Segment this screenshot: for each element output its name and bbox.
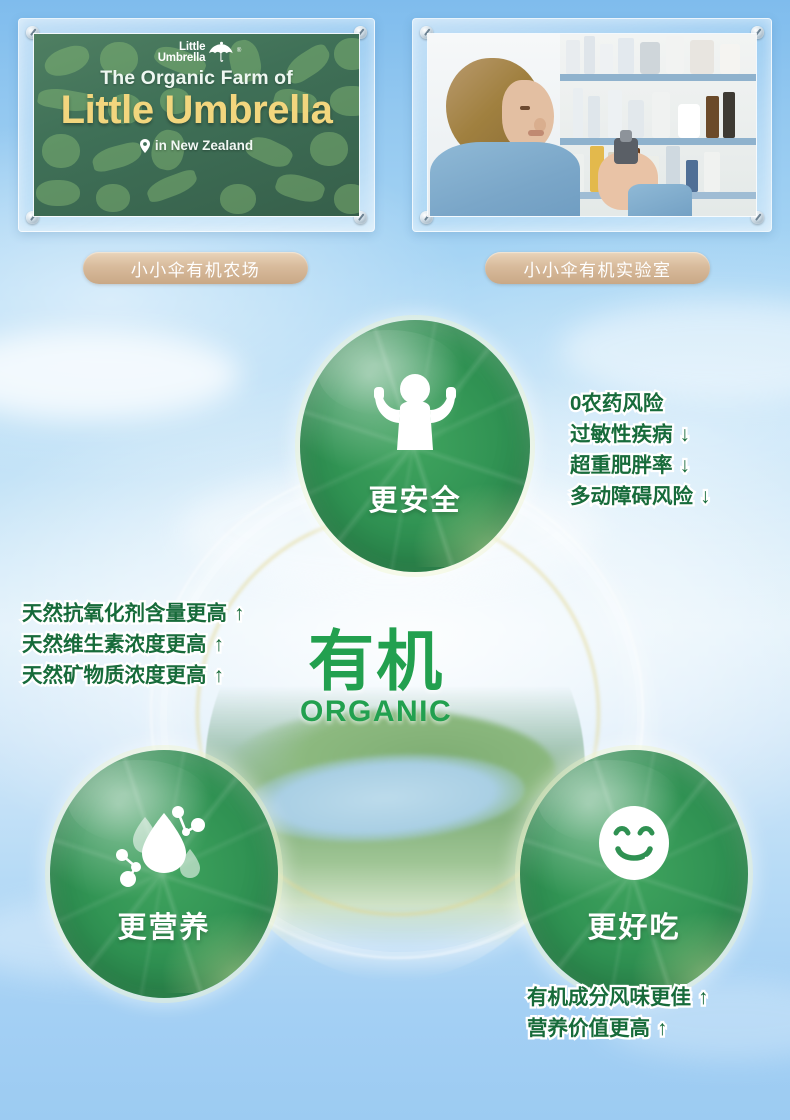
little-umbrella-logo: Little Umbrella ® <box>158 41 236 65</box>
benefit-text: 营养价值更高 <box>527 1013 650 1044</box>
benefit-arrow: ↑ <box>214 629 225 660</box>
benefit-item: 有机成分风味更佳 ↑ <box>527 982 709 1013</box>
benefits-tastier-list: 有机成分风味更佳 ↑ 营养价值更高 ↑ <box>527 982 709 1044</box>
farm-sign-artwork: Little Umbrella ® The Organic Farm of <box>34 34 359 216</box>
benefit-arrow: ↑ <box>214 660 225 691</box>
smiley-tongue-face-icon <box>590 803 678 892</box>
benefit-item: 过敏性疾病 ↓ <box>570 419 711 450</box>
benefit-item: 天然维生素浓度更高 ↑ <box>22 629 245 660</box>
bubble-safer[interactable]: 更安全 <box>300 320 530 572</box>
farm-caption-pill: 小小伞有机农场 <box>83 252 308 284</box>
sign-location-text: in New Zealand <box>155 138 253 153</box>
bubble-nutritious-label: 更营养 <box>117 904 210 946</box>
logo-line-2: Umbrella <box>158 53 206 65</box>
benefit-text: 有机成分风味更佳 <box>527 982 691 1013</box>
benefit-arrow: ↑ <box>234 598 245 629</box>
benefits-safer-list: 0农药风险 过敏性疾病 ↓ 超重肥胖率 ↓ 多动障碍风险 ↓ <box>570 388 711 512</box>
benefit-item: 天然矿物质浓度更高 ↑ <box>22 660 245 691</box>
lab-photo-panel <box>412 18 772 232</box>
registered-mark: ® <box>237 48 241 54</box>
muscle-flex-person-icon <box>367 374 463 465</box>
lab-caption-pill: 小小伞有机实验室 <box>485 252 710 284</box>
benefit-text: 天然抗氧化剂含量更高 <box>22 598 227 629</box>
lab-photo-artwork <box>428 34 756 216</box>
benefit-arrow: ↑ <box>698 982 709 1013</box>
benefit-text: 超重肥胖率 <box>570 450 673 481</box>
cloud-decoration <box>560 300 790 400</box>
cloud-decoration <box>0 330 240 420</box>
bubble-nutritious[interactable]: 更营养 <box>50 750 278 998</box>
benefit-text: 天然矿物质浓度更高 <box>22 660 207 691</box>
sign-location: in New Zealand <box>140 138 253 153</box>
benefit-item: 超重肥胖率 ↓ <box>570 450 711 481</box>
benefit-item: 天然抗氧化剂含量更高 ↑ <box>22 598 245 629</box>
benefit-arrow: ↓ <box>700 481 711 512</box>
sign-title: Little Umbrella <box>61 89 333 131</box>
farm-sign-image: Little Umbrella ® The Organic Farm of <box>33 33 360 217</box>
benefit-text: 天然维生素浓度更高 <box>22 629 207 660</box>
benefits-nutritious-list: 天然抗氧化剂含量更高 ↑ 天然维生素浓度更高 ↑ 天然矿物质浓度更高 ↑ <box>22 598 245 691</box>
benefit-item: 0农药风险 <box>570 388 711 419</box>
water-drop-molecule-icon <box>114 803 214 892</box>
map-pin-icon <box>140 139 150 153</box>
bubble-tastier-label: 更好吃 <box>587 904 680 946</box>
organic-title-cn: 有机 <box>300 628 452 694</box>
lab-photo-image <box>427 33 757 217</box>
organic-title-block: 有机 ORGANIC <box>300 628 452 729</box>
infographic-page: Little Umbrella ® The Organic Farm of <box>0 0 790 1120</box>
farm-sign-panel: Little Umbrella ® The Organic Farm of <box>18 18 375 232</box>
sign-subtitle: The Organic Farm of <box>100 67 293 90</box>
farm-caption-text: 小小伞有机农场 <box>131 256 261 281</box>
benefit-item: 营养价值更高 ↑ <box>527 1013 709 1044</box>
benefit-arrow: ↓ <box>680 419 691 450</box>
organic-title-en: ORGANIC <box>300 695 452 729</box>
benefit-arrow: ↑ <box>657 1013 668 1044</box>
umbrella-icon: ® <box>208 41 235 65</box>
benefit-item: 多动障碍风险 ↓ <box>570 481 711 512</box>
lab-caption-text: 小小伞有机实验室 <box>524 256 672 281</box>
benefit-arrow: ↓ <box>680 450 691 481</box>
benefit-text: 过敏性疾病 <box>570 419 673 450</box>
benefit-text: 0农药风险 <box>570 388 663 419</box>
bubble-tastier[interactable]: 更好吃 <box>520 750 748 998</box>
benefit-text: 多动障碍风险 <box>570 481 693 512</box>
bubble-safer-label: 更安全 <box>368 477 461 519</box>
